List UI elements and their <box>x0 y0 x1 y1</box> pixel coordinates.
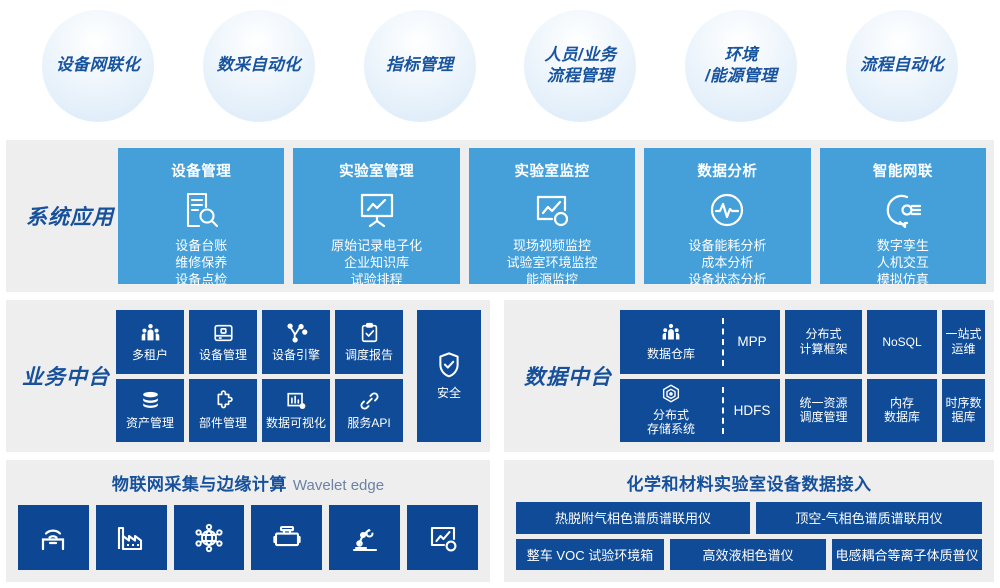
clipboard-check-icon <box>358 322 381 344</box>
lab-chip-label: 电感耦合等离子体质普仪 <box>835 545 978 564</box>
tile-device-management[interactable]: 设备管理 <box>189 310 257 374</box>
lab-data-title: 化学和材料实验室设备数据接入 <box>627 475 872 494</box>
sysapp-card-lab-management[interactable]: 实验室管理 原始记录电子化 企业知识库 试验排程 <box>293 148 459 284</box>
system-application-section: 系统应用 设备管理 设备台账 维修保养 设备点检 实验室管理 <box>6 140 994 292</box>
business-platform-section: 业务中台 多租户 设备管理 <box>6 300 490 452</box>
business-platform-tile-grid: 多租户 设备管理 设备引擎 <box>116 310 412 442</box>
capability-bubble-3[interactable]: 人员/业务 流程管理 <box>524 10 636 122</box>
tile-label: 安全 <box>437 384 461 401</box>
tile-label: 数据可视化 <box>266 416 326 430</box>
sysapp-card-equipment-management[interactable]: 设备管理 设备台账 维修保养 设备点检 <box>118 148 284 284</box>
sysapp-card-title: 智能网联 <box>873 160 933 181</box>
combo-left: 数据仓库 <box>620 310 722 374</box>
data-platform-label: 数据中台 <box>516 300 620 452</box>
system-application-label: 系统应用 <box>20 140 120 292</box>
iot-tile-factory[interactable] <box>96 505 167 570</box>
sysapp-card-lines: 原始记录电子化 企业知识库 试验排程 <box>331 237 422 288</box>
combo-right-label: MPP <box>724 310 780 374</box>
tile-one-stop-ops[interactable]: 一站式运维 <box>942 310 985 374</box>
sensor-device-icon <box>271 522 303 554</box>
tile-label: 分布式 计算框架 <box>799 327 847 356</box>
sysapp-card-intelligent-connection[interactable]: 智能网联 数字孪生 人机交互 模拟仿真 <box>820 148 986 284</box>
lab-chip-hplc[interactable]: 高效液相色谱仪 <box>670 539 826 571</box>
lab-data-section: 化学和材料实验室设备数据接入 热脱附气相色谱质谱联用仪 顶空-气相色谱质谱联用仪… <box>504 460 994 582</box>
sysapp-card-lines: 设备台账 维修保养 设备点检 <box>175 237 227 288</box>
iot-tile-sensor-device[interactable] <box>251 505 322 570</box>
tile-label: NoSQL <box>882 335 921 349</box>
sysapp-card-lines: 设备能耗分析 成本分析 设备状态分析 <box>688 237 766 288</box>
chart-monitor-icon <box>427 522 459 554</box>
system-application-card-row: 设备管理 设备台账 维修保养 设备点检 实验室管理 <box>118 148 986 284</box>
tile-device-engine[interactable]: 设备引擎 <box>262 310 330 374</box>
node-engine-icon <box>285 322 308 344</box>
data-platform-tile-grid: 数据仓库 MPP 分布式 计算框架 NoSQL 一站式运维 分布式 存储系统 <box>620 310 985 442</box>
tile-component-management[interactable]: 部件管理 <box>189 379 257 443</box>
tile-label: 统一资源 调度管理 <box>799 396 847 425</box>
lab-chip-label: 整车 VOC 试验环境箱 <box>527 545 653 564</box>
shield-check-icon <box>436 351 462 379</box>
document-search-icon <box>181 190 221 230</box>
iot-tile-robot-arm[interactable] <box>329 505 400 570</box>
ai-head-icon <box>883 190 923 230</box>
data-platform-row-1: 数据仓库 MPP 分布式 计算框架 NoSQL 一站式运维 <box>620 310 985 374</box>
monitor-chart-icon <box>532 190 572 230</box>
capability-bubble-1[interactable]: 数采自动化 <box>203 10 315 122</box>
sysapp-card-title: 数据分析 <box>697 160 757 181</box>
lab-chip-icp-ms[interactable]: 电感耦合等离子体质普仪 <box>832 539 982 571</box>
distributed-storage-icon <box>660 384 682 404</box>
tile-nosql[interactable]: NoSQL <box>867 310 937 374</box>
data-warehouse-icon <box>660 323 682 343</box>
pulse-circle-icon <box>707 190 747 230</box>
capability-bubble-2[interactable]: 指标管理 <box>364 10 476 122</box>
capability-bubble-label: 数采自动化 <box>211 55 307 76</box>
tile-label: 设备管理 <box>199 348 247 362</box>
tile-schedule-report[interactable]: 调度报告 <box>335 310 403 374</box>
iot-edge-title: 物联网采集与边缘计算 <box>112 475 287 494</box>
lab-chip-rows: 热脱附气相色谱质谱联用仪 顶空-气相色谱质谱联用仪 整车 VOC 试验环境箱 高… <box>516 502 982 570</box>
architecture-diagram: 设备网联化 数采自动化 指标管理 人员/业务 流程管理 环境 /能源管理 流程自… <box>0 0 1000 588</box>
tile-label: 多租户 <box>132 348 168 362</box>
sysapp-card-title: 实验室监控 <box>515 160 590 181</box>
link-api-icon <box>358 390 381 412</box>
iot-tile-wifi-gateway[interactable] <box>18 505 89 570</box>
sysapp-card-title: 设备管理 <box>171 160 231 181</box>
tile-label: 资产管理 <box>126 416 174 430</box>
iot-edge-section: 物联网采集与边缘计算Wavelet edge <box>6 460 490 582</box>
combo-left-label: 分布式 存储系统 <box>647 408 695 437</box>
capability-bubble-label: 指标管理 <box>380 55 459 76</box>
tile-label: 设备引擎 <box>272 348 320 362</box>
capability-bubble-4[interactable]: 环境 /能源管理 <box>685 10 797 122</box>
tile-multi-tenant[interactable]: 多租户 <box>116 310 184 374</box>
capability-bubble-5[interactable]: 流程自动化 <box>846 10 958 122</box>
network-globe-icon <box>193 522 225 554</box>
lab-data-heading: 化学和材料实验室设备数据接入 <box>504 460 994 495</box>
lab-chip-row-1: 热脱附气相色谱质谱联用仪 顶空-气相色谱质谱联用仪 <box>516 502 982 534</box>
tile-label: 调度报告 <box>345 348 393 362</box>
tile-unified-resource-scheduling[interactable]: 统一资源 调度管理 <box>785 379 862 443</box>
lab-chip-hs-gcms[interactable]: 顶空-气相色谱质谱联用仪 <box>756 502 982 534</box>
wifi-gateway-icon <box>37 522 69 554</box>
business-platform-label: 业务中台 <box>16 300 116 452</box>
tile-label: 部件管理 <box>199 416 247 430</box>
combo-left: 分布式 存储系统 <box>620 379 722 443</box>
iot-icon-row <box>18 505 478 570</box>
tile-label: 时序数据库 <box>942 396 985 425</box>
tile-in-memory-database[interactable]: 内存 数据库 <box>867 379 937 443</box>
tile-time-series-database[interactable]: 时序数据库 <box>942 379 985 443</box>
combo-left-label: 数据仓库 <box>647 347 695 361</box>
factory-icon <box>115 522 147 554</box>
tile-label: 服务API <box>347 416 390 430</box>
tile-security[interactable]: 安全 <box>417 310 481 442</box>
tile-label: 一站式运维 <box>942 327 985 356</box>
capability-bubble-label: 人员/业务 流程管理 <box>538 45 622 87</box>
lab-chip-td-gcms[interactable]: 热脱附气相色谱质谱联用仪 <box>516 502 750 534</box>
lab-chip-row-2: 整车 VOC 试验环境箱 高效液相色谱仪 电感耦合等离子体质普仪 <box>516 539 982 571</box>
sysapp-card-lab-monitoring[interactable]: 实验室监控 现场视频监控 试验室环境监控 能源监控 <box>469 148 635 284</box>
capability-bubble-label: 设备网联化 <box>50 55 146 76</box>
capability-bubble-0[interactable]: 设备网联化 <box>42 10 154 122</box>
tile-distributed-compute-framework[interactable]: 分布式 计算框架 <box>785 310 862 374</box>
sysapp-card-lines: 现场视频监控 试验室环境监控 能源监控 <box>507 237 598 288</box>
iot-edge-heading: 物联网采集与边缘计算Wavelet edge <box>6 460 490 495</box>
tile-asset-management[interactable]: 资产管理 <box>116 379 184 443</box>
tile-label: 内存 数据库 <box>884 396 920 425</box>
sysapp-card-data-analysis[interactable]: 数据分析 设备能耗分析 成本分析 设备状态分析 <box>644 148 810 284</box>
business-platform-row-2: 资产管理 部件管理 数据可视化 <box>116 379 412 443</box>
lab-chip-label: 热脱附气相色谱质谱联用仪 <box>555 508 711 527</box>
business-platform-row-1: 多租户 设备管理 设备引擎 <box>116 310 412 374</box>
database-asset-icon <box>139 390 162 412</box>
multi-tenant-icon <box>139 322 162 344</box>
presentation-chart-icon <box>357 190 397 230</box>
lab-chip-label: 高效液相色谱仪 <box>702 545 793 564</box>
iot-edge-subtitle: Wavelet edge <box>293 477 384 494</box>
bar-chart-icon <box>285 390 308 412</box>
device-manage-icon <box>212 322 235 344</box>
combo-right-label: HDFS <box>724 379 780 443</box>
iot-tile-chart-monitor[interactable] <box>407 505 478 570</box>
sysapp-card-title: 实验室管理 <box>339 160 414 181</box>
combo-data-warehouse-mpp[interactable]: 数据仓库 MPP <box>620 310 780 374</box>
tile-service-api[interactable]: 服务API <box>335 379 403 443</box>
puzzle-icon <box>212 390 235 412</box>
capability-bubble-row: 设备网联化 数采自动化 指标管理 人员/业务 流程管理 环境 /能源管理 流程自… <box>0 0 1000 134</box>
lab-chip-voc-chamber[interactable]: 整车 VOC 试验环境箱 <box>516 539 664 571</box>
data-platform-section: 数据中台 数据仓库 MPP 分布式 计算框架 NoSQL 一站式运维 <box>504 300 994 452</box>
robot-arm-icon <box>349 522 381 554</box>
capability-bubble-label: 环境 /能源管理 <box>699 45 783 87</box>
data-platform-row-2: 分布式 存储系统 HDFS 统一资源 调度管理 内存 数据库 时序数据库 <box>620 379 985 443</box>
combo-distributed-storage-hdfs[interactable]: 分布式 存储系统 HDFS <box>620 379 780 443</box>
lab-chip-label: 顶空-气相色谱质谱联用仪 <box>795 508 942 527</box>
capability-bubble-label: 流程自动化 <box>854 55 950 76</box>
tile-data-visualization[interactable]: 数据可视化 <box>262 379 330 443</box>
sysapp-card-lines: 数字孪生 人机交互 模拟仿真 <box>877 237 929 288</box>
iot-tile-network-globe[interactable] <box>174 505 245 570</box>
